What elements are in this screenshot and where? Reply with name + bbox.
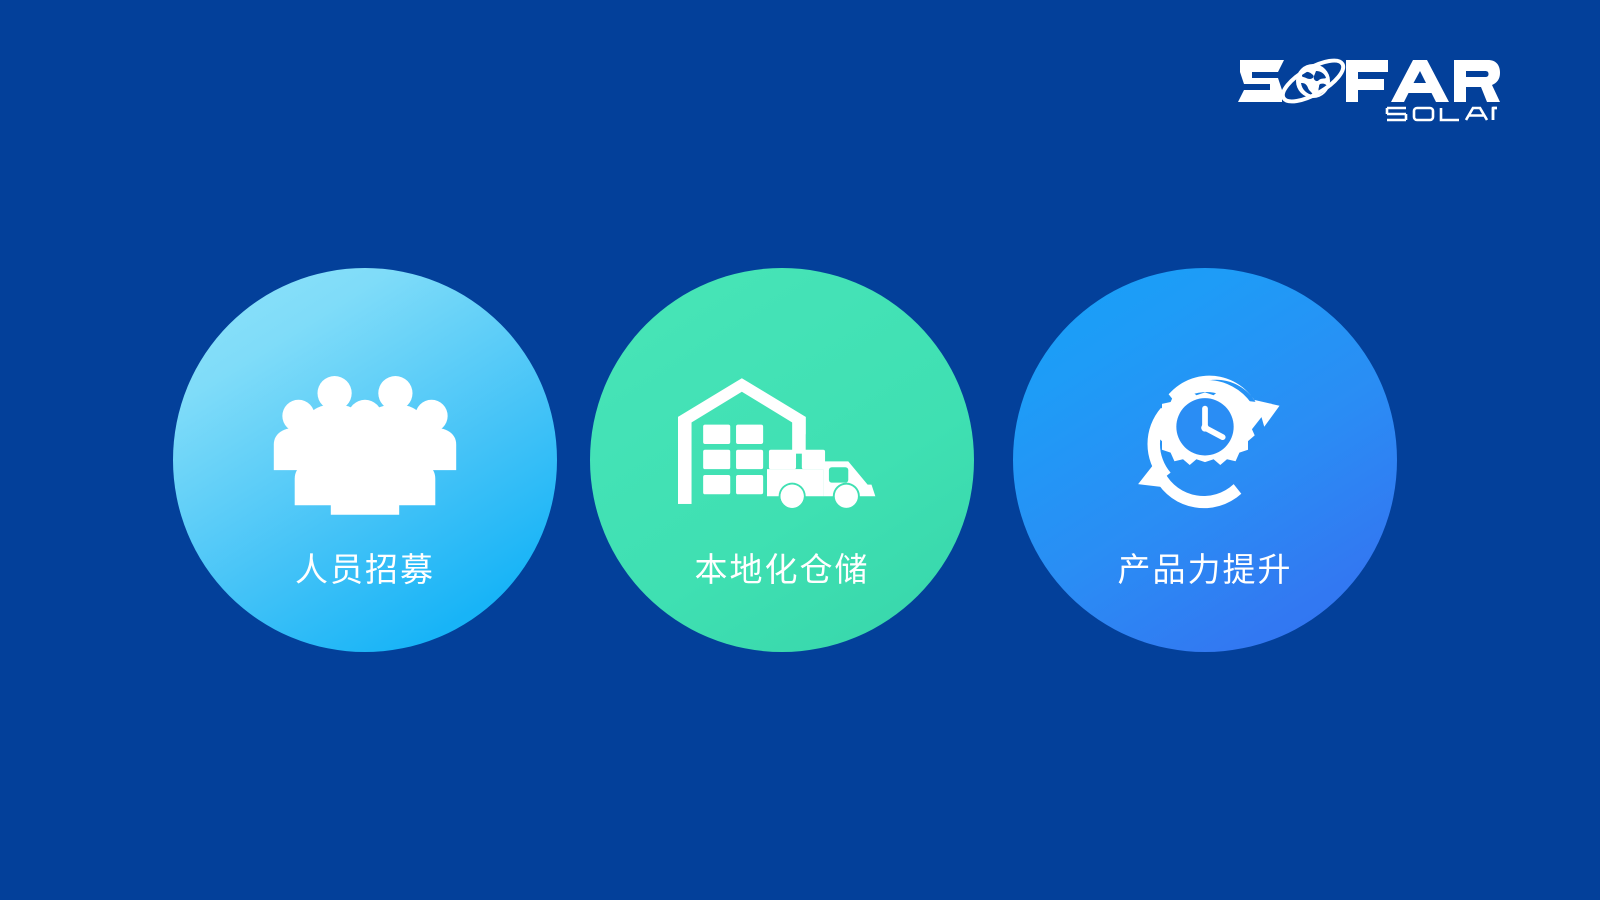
gear-clock-cycle-icon bbox=[1090, 356, 1320, 531]
feature-circle-local-warehousing[interactable]: 本地化仓储 bbox=[590, 268, 974, 652]
globe-orbit-icon bbox=[1277, 53, 1349, 110]
logo-letters-far bbox=[1346, 60, 1500, 102]
feature-label-recruitment: 人员招募 bbox=[295, 553, 435, 586]
warehouse-truck-icon bbox=[667, 356, 897, 531]
feature-circles: 人员招募 bbox=[0, 268, 1600, 654]
logo-letter-s bbox=[1238, 60, 1284, 102]
logo-word-solar bbox=[1387, 108, 1497, 120]
feature-label-local-warehousing: 本地化仓储 bbox=[695, 553, 870, 586]
people-group-icon bbox=[250, 356, 480, 531]
feature-circle-recruitment[interactable]: 人员招募 bbox=[173, 268, 557, 652]
sofar-solar-logo bbox=[1238, 50, 1500, 122]
feature-circle-product-capability[interactable]: 产品力提升 bbox=[1013, 268, 1397, 652]
feature-label-product-capability: 产品力提升 bbox=[1118, 553, 1293, 586]
slide-canvas: 人员招募 bbox=[0, 0, 1600, 900]
